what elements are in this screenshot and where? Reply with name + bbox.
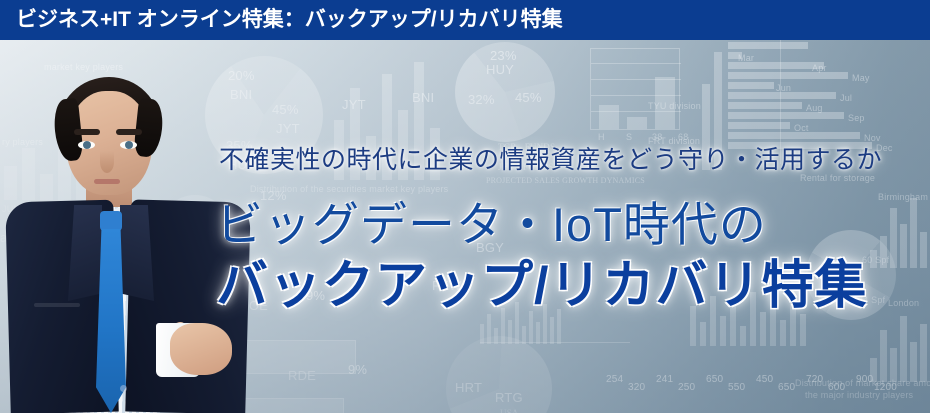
eyebrow-left [74,129,100,135]
hero-subtitle: 不確実性の時代に企業の情報資産をどう守り・活用するか [219,140,882,176]
hero-title-line-2: バックアップ/リカバリ特集 [216,243,867,318]
header-bar: ビジネス+IT オンライン特集：バックアップ/リカバリ特集 [0,0,930,40]
eyebrow-right [116,129,142,135]
jacket-pocket [34,303,80,307]
mouth [94,179,120,184]
hair-side-right [133,98,165,158]
nose [100,151,114,173]
businessman-photo [8,55,248,413]
campaign-banner: JUN JUL AUG SEP activity Changes in acti… [0,0,930,413]
header-title: ビジネス+IT オンライン特集：バックアップ/リカバリ特集 [16,7,563,33]
hand [170,323,232,375]
jacket-button [120,385,127,392]
eye-right [120,141,137,149]
tie-knot [100,211,122,231]
eye-left [78,141,95,149]
